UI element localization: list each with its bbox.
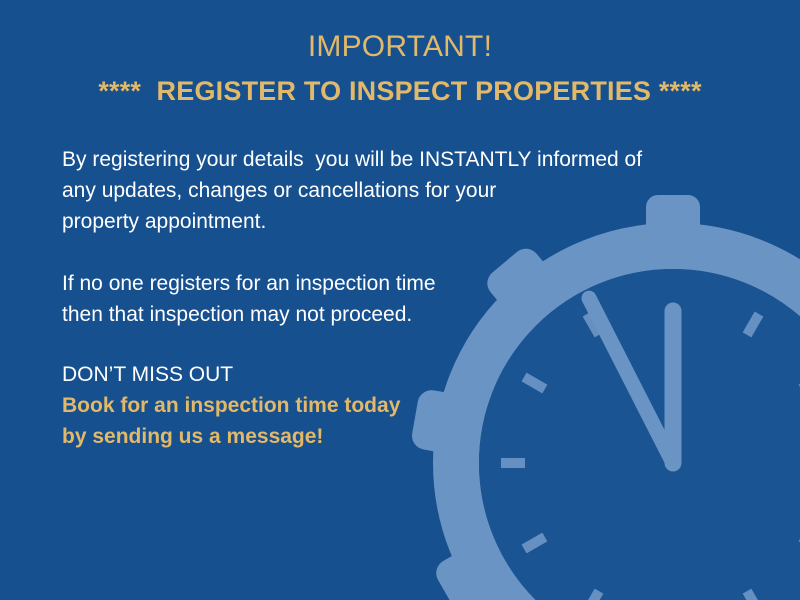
body-line: If no one registers for an inspection ti… <box>62 268 722 299</box>
paragraph-dont-miss-out: DON’T MISS OUT <box>62 359 722 390</box>
paragraph-spacer <box>62 237 722 268</box>
paragraph-registering: By registering your details you will be … <box>62 144 722 237</box>
body-line: then that inspection may not proceed. <box>62 299 722 330</box>
page-title-register: **** REGISTER TO INSPECT PROPERTIES **** <box>0 72 800 110</box>
headline-block: IMPORTANT! **** REGISTER TO INSPECT PROP… <box>0 28 800 110</box>
page-title-important: IMPORTANT! <box>0 28 800 66</box>
paragraph-no-registration: If no one registers for an inspection ti… <box>62 268 722 330</box>
body-line: any updates, changes or cancellations fo… <box>62 175 722 206</box>
body-line: property appointment. <box>62 206 722 237</box>
paragraph-spacer <box>62 330 722 359</box>
slide-canvas: IMPORTANT! **** REGISTER TO INSPECT PROP… <box>0 0 800 600</box>
body-line: By registering your details you will be … <box>62 144 722 175</box>
body-copy-block: By registering your details you will be … <box>62 144 722 452</box>
cta-line: Book for an inspection time today <box>62 390 722 421</box>
body-line-dont-miss-out: DON’T MISS OUT <box>62 359 722 390</box>
cta-line: by sending us a message! <box>62 421 722 452</box>
paragraph-call-to-action: Book for an inspection time today by sen… <box>62 390 722 452</box>
